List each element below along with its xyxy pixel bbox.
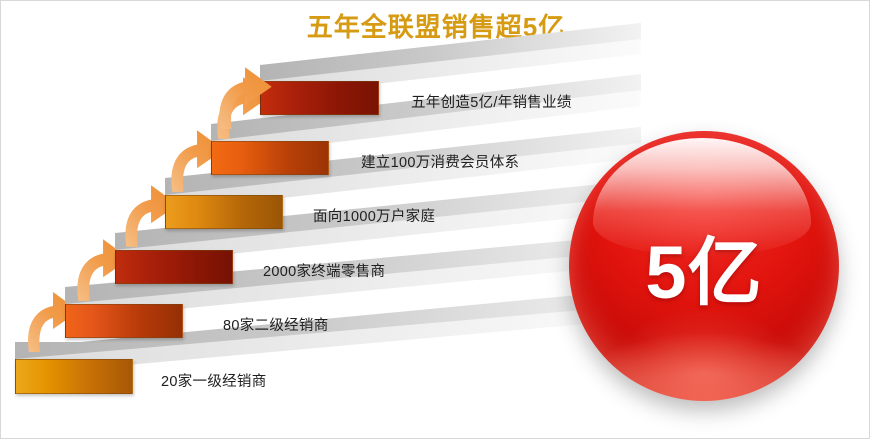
stair-step-6[interactable]: 五年创造5亿/年销售业绩 [1, 1, 641, 439]
highlight-badge[interactable]: 5亿 [567, 129, 843, 405]
infographic-canvas: 五年全联盟销售超5亿 [0, 0, 870, 439]
step-tread-6 [1, 1, 641, 439]
badge-value: 5亿 [567, 129, 841, 403]
staircase-diagram: 20家一级经销商 80家二级经销商 2000家终端零售商 [1, 1, 641, 439]
step-label-6: 五年创造5亿/年销售业绩 [411, 91, 572, 112]
curved-up-right-arrow-icon-top [209, 59, 279, 133]
